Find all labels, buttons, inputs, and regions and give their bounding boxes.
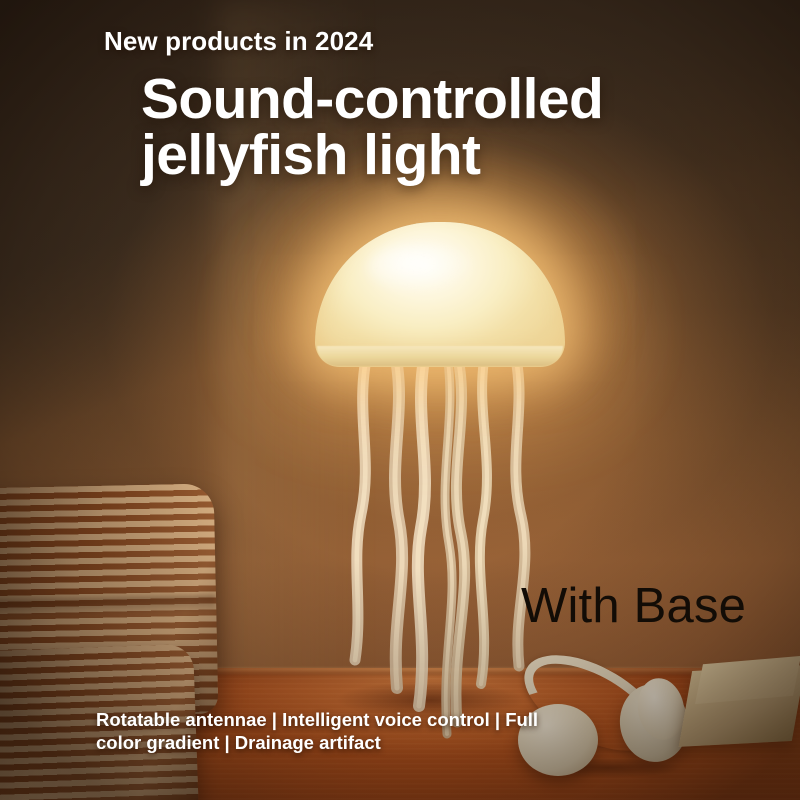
eyebrow-text: New products in 2024 [104,26,373,57]
headline-line-2: jellyfish light [141,128,741,184]
with-base-badge: With Base [521,578,746,634]
page-title: Sound-controlled jellyfish light [141,72,741,184]
headline-line-1: Sound-controlled [141,67,603,131]
feature-list-text: Rotatable antennae | Intelligent voice c… [96,708,576,755]
product-poster: New products in 2024 Sound-controlled je… [0,0,800,800]
